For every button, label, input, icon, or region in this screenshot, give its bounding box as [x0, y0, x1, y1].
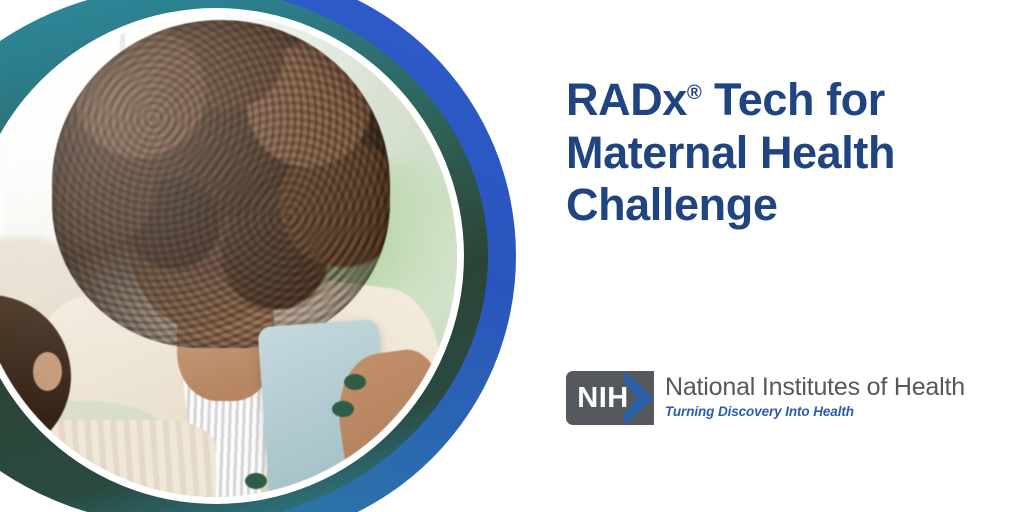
title-line-1-main: RADx: [566, 74, 687, 125]
nih-badge: NIH: [566, 371, 654, 425]
photo-fingernail: [332, 401, 354, 417]
title-line-2: Maternal Health: [566, 127, 895, 178]
photo-ring: [0, 8, 464, 504]
nih-wordmark: National Institutes of Health Turning Di…: [654, 371, 965, 419]
photo-baby-ear: [33, 352, 62, 391]
nih-logo: NIH National Institutes of Health Turnin…: [566, 371, 965, 425]
nih-tagline: Turning Discovery Into Health: [665, 404, 965, 419]
page-title: RADx® Tech forMaternal HealthChallenge: [566, 74, 986, 232]
title-line-1-rest: Tech for: [702, 74, 885, 125]
banner-root: RADx® Tech forMaternal HealthChallenge N…: [0, 0, 1024, 512]
title-line-3: Challenge: [566, 179, 777, 230]
decorative-graphic: [0, 0, 560, 512]
chevron-right-icon: [624, 371, 654, 425]
photo-mother-hair: [52, 20, 389, 348]
content-column: RADx® Tech forMaternal HealthChallenge N…: [560, 0, 1024, 512]
hero-photo: [0, 15, 457, 497]
nih-organization-name: National Institutes of Health: [665, 374, 965, 401]
registered-trademark-icon: ®: [687, 82, 702, 104]
